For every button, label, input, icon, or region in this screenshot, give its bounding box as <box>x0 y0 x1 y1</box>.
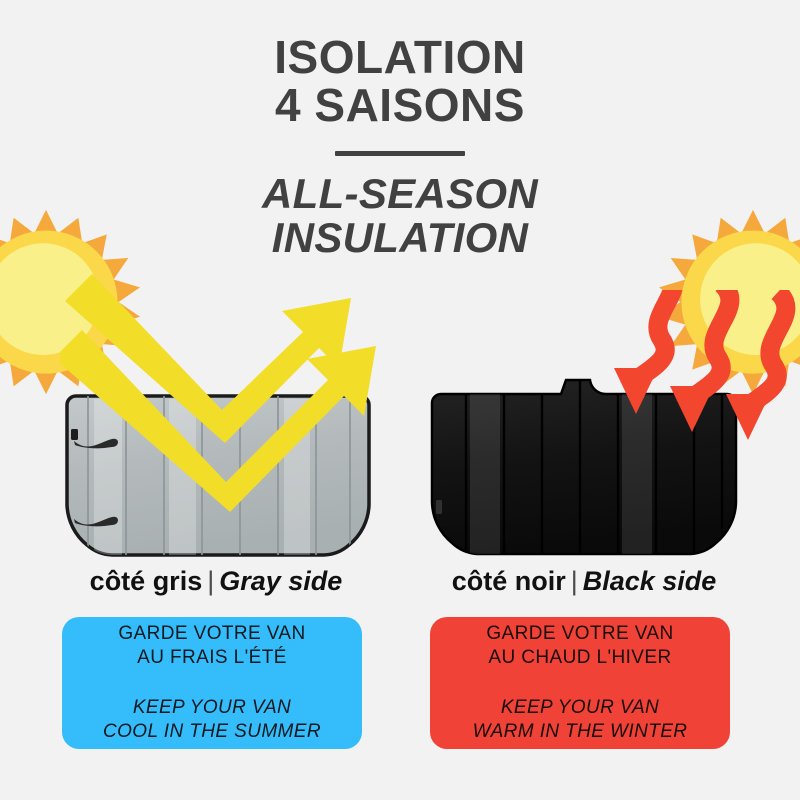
callout-warm-french: GARDE VOTRE VAN AU CHAUD L'HIVER <box>486 622 673 671</box>
callout-cool-french: GARDE VOTRE VAN AU FRAIS L'ÉTÉ <box>118 622 305 671</box>
label-gray-side-french: côté gris <box>90 566 203 596</box>
infographic-poster: ISOLATION 4 SAISONS ALL-SEASON INSULATIO… <box>0 0 800 800</box>
label-black-side: côté noir|Black side <box>414 566 754 597</box>
label-gray-side: côté gris|Gray side <box>46 566 386 597</box>
header-divider <box>335 151 465 156</box>
page-title-english: ALL-SEASON INSULATION <box>0 172 800 260</box>
callout-cool-summer: GARDE VOTRE VAN AU FRAIS L'ÉTÉ KEEP YOUR… <box>62 617 362 749</box>
title-english-line-1: ALL-SEASON <box>262 170 538 217</box>
callout-cool-english: KEEP YOUR VAN COOL IN THE SUMMER <box>103 696 321 745</box>
page-title-french: ISOLATION 4 SAISONS <box>0 34 800 130</box>
header: ISOLATION 4 SAISONS ALL-SEASON INSULATIO… <box>0 34 800 260</box>
label-gray-side-english: Gray side <box>219 566 342 596</box>
callout-cool-french-line-1: GARDE VOTRE VAN <box>118 622 305 646</box>
label-black-side-english: Black side <box>583 566 717 596</box>
callout-cool-english-line-2: COOL IN THE SUMMER <box>103 720 321 744</box>
gray-sunshade-icon <box>64 393 372 561</box>
label-gray-side-separator: | <box>202 566 219 596</box>
black-sunshade-icon <box>430 372 738 560</box>
title-french-line-1: ISOLATION <box>274 31 526 83</box>
callout-warm-english-line-1: KEEP YOUR VAN <box>473 696 688 720</box>
title-english-line-2: INSULATION <box>0 216 800 260</box>
callout-warm-french-line-2: AU CHAUD L'HIVER <box>486 646 673 670</box>
callout-cool-english-line-1: KEEP YOUR VAN <box>103 696 321 720</box>
title-french-line-2: 4 SAISONS <box>0 82 800 130</box>
callout-cool-french-line-2: AU FRAIS L'ÉTÉ <box>118 646 305 670</box>
label-black-side-french: côté noir <box>452 566 566 596</box>
callout-warm-english-line-2: WARM IN THE WINTER <box>473 720 688 744</box>
label-black-side-separator: | <box>566 566 583 596</box>
callout-warm-winter: GARDE VOTRE VAN AU CHAUD L'HIVER KEEP YO… <box>430 617 730 749</box>
callout-warm-french-line-1: GARDE VOTRE VAN <box>486 622 673 646</box>
callout-warm-english: KEEP YOUR VAN WARM IN THE WINTER <box>473 696 688 745</box>
